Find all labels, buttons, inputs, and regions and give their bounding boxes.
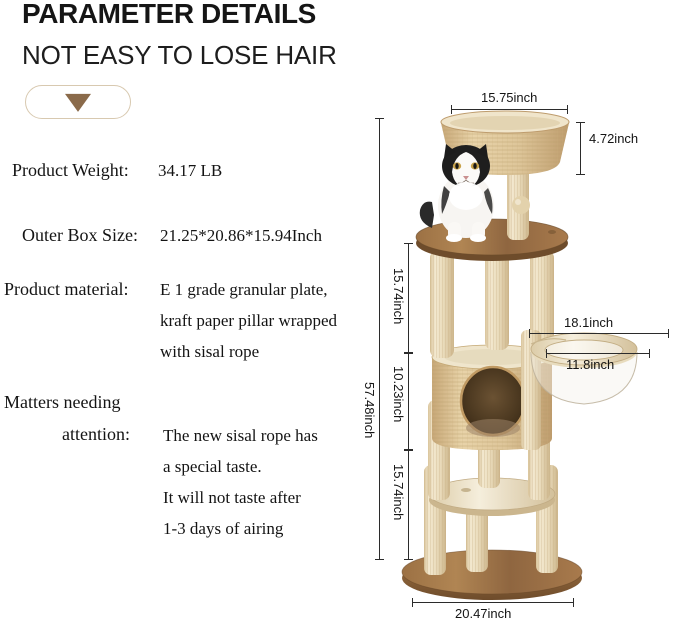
dimline-condo-height (408, 353, 409, 450)
dimline-total-height (379, 118, 380, 560)
dimline-top-basket-width (451, 109, 568, 110)
dimlabel-total-height: 57.48inch (362, 382, 377, 438)
cat-tree-illustration (0, 0, 679, 624)
dimline-top-basket-height (580, 122, 581, 175)
dimlabel-hammock-inner: 11.8inch (566, 357, 614, 372)
dimlabel-top-basket-height: 4.72inch (589, 131, 638, 146)
dimline-lower-section (408, 450, 409, 560)
dimline-hammock-outer (529, 333, 669, 334)
main-shelf (416, 219, 568, 261)
dimline-upper-section (408, 243, 409, 353)
dimlabel-hammock-outer: 18.1inch (564, 315, 613, 330)
dimlabel-condo-height: 10.23inch (391, 366, 406, 422)
top-post (507, 165, 530, 240)
dimlabel-top-basket-width: 15.75inch (481, 90, 537, 105)
dimlabel-lower-section: 15.74inch (391, 464, 406, 520)
dimline-base-width (412, 602, 574, 603)
cat (420, 144, 494, 242)
dimlabel-upper-section: 15.74inch (391, 268, 406, 324)
parameter-details-page: PARAMETER DETAILS NOT EASY TO LOSE HAIR … (0, 0, 679, 624)
dimline-hammock-inner (546, 353, 650, 354)
dimlabel-base-width: 20.47inch (455, 606, 511, 621)
side-hammock (521, 330, 637, 450)
